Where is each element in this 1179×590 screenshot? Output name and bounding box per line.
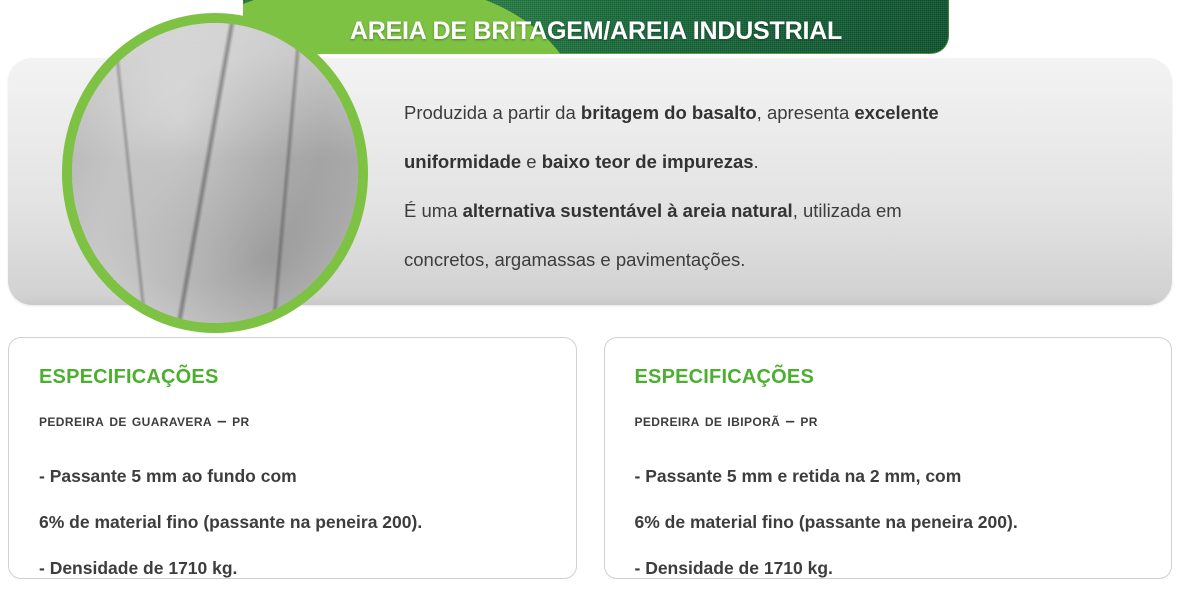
description-line-1: Produzida a partir da britagem do basalt… [404,88,1144,137]
specification-card-guaravera: ESPECIFICAÇÕES Pedreira de Guaravera – P… [8,337,577,579]
description-line-2: uniformidade e baixo teor de impurezas. [404,137,1144,186]
card-heading: ESPECIFICAÇÕES [635,366,1142,389]
card-line-granulometry: - Passante 5 mm ao fundo com [39,453,546,499]
specification-card-ibipora: ESPECIFICAÇÕES Pedreira de Ibiporã – PR … [604,337,1173,579]
card-line-density: - Densidade de 1710 kg. [39,545,546,590]
product-info-sheet: AREIA DE BRITAGEM/AREIA INDUSTRIAL Produ… [0,0,1179,590]
description-line-2-strong-1: uniformidade [404,151,521,172]
product-photo [72,23,358,323]
description-line-2-strong-2: baixo teor de impurezas [542,151,754,172]
description-line-2-part-1: e [521,151,542,172]
card-line-fines: 6% de material fino (passante na peneira… [635,499,1142,545]
description-text: Produzida a partir da britagem do basalt… [404,88,1144,284]
description-line-3: É uma alternativa sustentável à areia na… [404,186,1144,235]
card-line-granulometry: - Passante 5 mm e retida na 2 mm, com [635,453,1142,499]
description-line-4: concretos, argamassas e pavimentações. [404,235,1144,284]
description-line-2-part-2: . [754,151,759,172]
card-heading: ESPECIFICAÇÕES [39,366,546,389]
description-line-1-strong-1: britagem do basalto [581,102,757,123]
description-line-3-part-1: É uma [404,200,463,221]
card-line-fines: 6% de material fino (passante na peneira… [39,499,546,545]
description-line-3-strong-1: alternativa sustentável à areia natural [463,200,793,221]
product-photo-ring [62,13,368,333]
description-line-1-strong-2: excelente [854,102,938,123]
card-line-density: - Densidade de 1710 kg. [635,545,1142,590]
description-line-1-part-1: Produzida a partir da [404,102,581,123]
description-line-3-part-2: , utilizada em [793,200,902,221]
card-subheading-quarry: Pedreira de Guaravera – PR [39,411,546,431]
specification-cards: ESPECIFICAÇÕES Pedreira de Guaravera – P… [8,337,1172,579]
description-line-1-part-2: , apresenta [757,102,855,123]
card-subheading-quarry: Pedreira de Ibiporã – PR [635,411,1142,431]
